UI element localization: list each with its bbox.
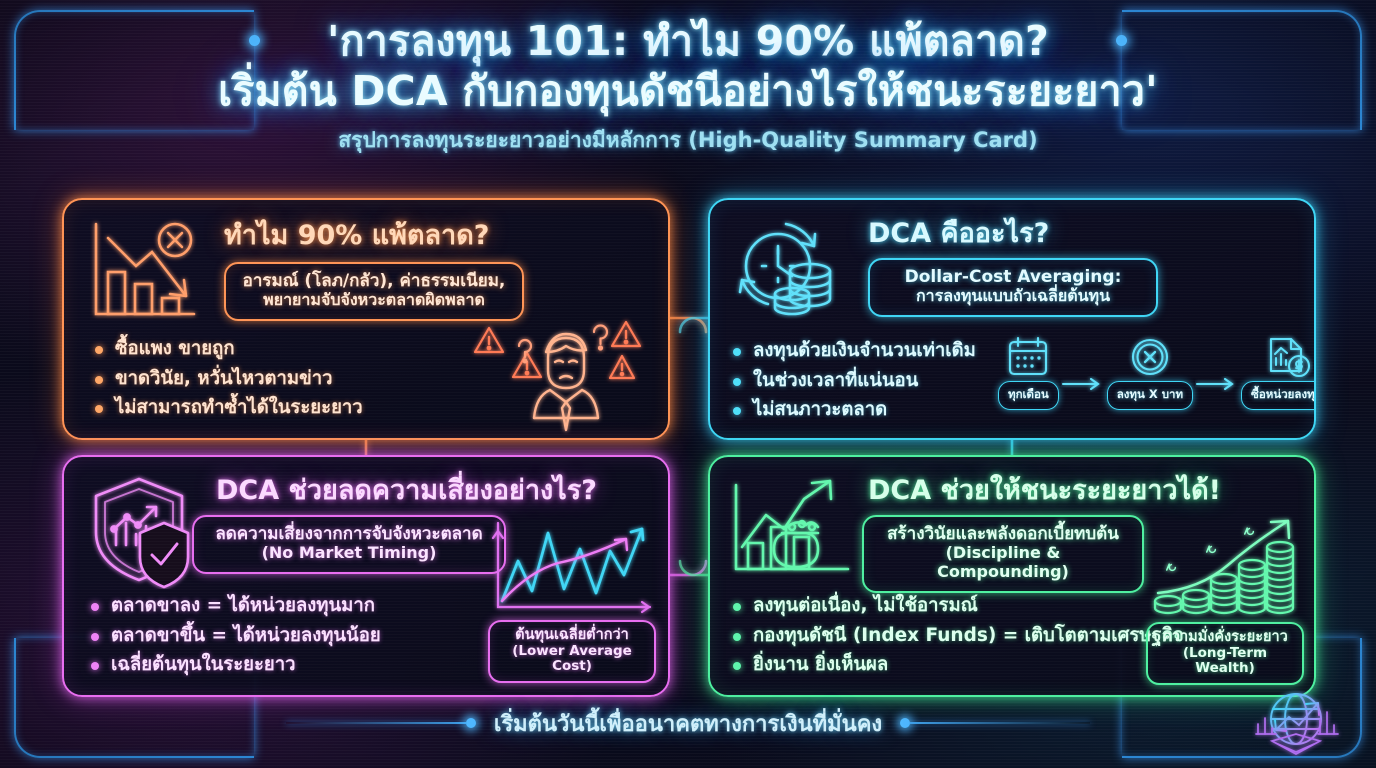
dca-step-1: ทุกเดือน bbox=[998, 333, 1059, 410]
footer-line-left bbox=[286, 722, 466, 724]
pill-lower-line-2: (Lower Average Cost) bbox=[500, 644, 644, 675]
shield-chart-check-icon bbox=[82, 471, 208, 589]
declining-bar-chart-icon bbox=[82, 214, 204, 332]
long-term-wealth-pill: ความมั่งคั่งระยะยาว (Long-Term Wealth) bbox=[1146, 622, 1304, 685]
calendar-icon bbox=[1003, 333, 1053, 381]
card-win-heading: DCA ช่วยให้ชนะระยะยาวได้! bbox=[868, 477, 1221, 504]
fund-document-icon bbox=[1261, 333, 1313, 381]
arrow-right-icon bbox=[1195, 376, 1239, 392]
list-item: ตลาดขาขึ้น = ได้หน่วยลงทุนน้อย bbox=[90, 627, 381, 646]
card-risk-tag: ลดความเสี่ยงจากการจับจังหวะตลาด (No Mark… bbox=[192, 515, 506, 574]
card-win-tag-line-1: สร้างวินัยและพลังดอกเบี้ยทบต้น bbox=[878, 524, 1128, 544]
list-item: ขาดวินัย, หวั่นไหวตามข่าว bbox=[94, 370, 363, 389]
card-why-tag-line-1: อารมณ์ (โลภ/กลัว), ค่าธรรมเนียม, bbox=[240, 271, 508, 291]
card-dca-heading: DCA คืออะไร? bbox=[868, 220, 1049, 247]
footer-dot-left bbox=[466, 718, 476, 728]
list-item: ยิ่งนาน ยิ่งเห็นผล bbox=[732, 656, 1184, 675]
pill-lower-line-1: ต้นทุนเฉลี่ยต่ำกว่า bbox=[500, 627, 644, 644]
dca-step-2-label: ลงทุน X บาท bbox=[1107, 381, 1193, 410]
card-how-dca-reduces-risk[interactable]: DCA ช่วยลดความเสี่ยงอย่างไร? ลดความเสี่ย… bbox=[62, 455, 670, 697]
coin-x-icon bbox=[1125, 333, 1175, 381]
card-dca-bullet-list: ลงทุนด้วยเงินจำนวนเท่าเดิม ในช่วงเวลาที่… bbox=[732, 342, 976, 431]
card-dca-tag-line-1: Dollar-Cost Averaging: bbox=[884, 267, 1142, 287]
growth-arrow-money-pot-icon bbox=[726, 471, 858, 593]
card-risk-tag-line-2: (No Market Timing) bbox=[208, 544, 490, 563]
card-win-bullet-list: ลงทุนต่อเนื่อง, ไม่ใช้อารมณ์ กองทุนดัชนี… bbox=[732, 597, 1184, 686]
footer-dot-right bbox=[900, 718, 910, 728]
pill-wealth-line-2: (Long-Term Wealth) bbox=[1158, 646, 1292, 677]
card-why-tag: อารมณ์ (โลภ/กลัว), ค่าธรรมเนียม, พยายามจ… bbox=[224, 262, 524, 321]
card-win-tag: สร้างวินัยและพลังดอกเบี้ยทบต้น (Discipli… bbox=[862, 515, 1144, 593]
dca-step-2: ลงทุน X บาท bbox=[1107, 333, 1193, 410]
card-why-tag-line-2: พยายามจับจังหวะตลาดผิดพลาด bbox=[240, 291, 508, 310]
card-why-bullet-list: ซื้อแพง ขายถูก ขาดวินัย, หวั่นไหวตามข่าว… bbox=[94, 340, 363, 429]
card-win-tag-line-2: (Discipline & Compounding) bbox=[878, 544, 1128, 582]
page-title-line-2: เริ่มต้น DCA กับกองทุนดัชนีอย่างไรให้ชนะ… bbox=[0, 68, 1376, 115]
card-risk-heading: DCA ช่วยลดความเสี่ยงอย่างไร? bbox=[216, 477, 597, 504]
list-item: เฉลี่ยต้นทุนในระยะยาว bbox=[90, 656, 381, 675]
clock-coins-recurring-icon bbox=[726, 216, 856, 336]
card-why-90-percent-lose[interactable]: ทำไม 90% แพ้ตลาด? อารมณ์ (โลภ/กลัว), ค่า… bbox=[62, 198, 670, 440]
volatility-vs-average-chart-icon bbox=[484, 515, 660, 625]
card-why-heading: ทำไม 90% แพ้ตลาด? bbox=[224, 222, 489, 249]
list-item: ลงทุนต่อเนื่อง, ไม่ใช้อารมณ์ bbox=[732, 597, 1184, 616]
page-title-line-1: 'การลงทุน 101: ทำไม 90% แพ้ตลาด? bbox=[0, 18, 1376, 65]
pill-wealth-line-1: ความมั่งคั่งระยะยาว bbox=[1158, 629, 1292, 646]
list-item: ในช่วงเวลาที่แน่นอน bbox=[732, 372, 976, 391]
card-risk-tag-line-1: ลดความเสี่ยงจากการจับจังหวะตลาด bbox=[208, 524, 490, 544]
arrow-right-icon bbox=[1061, 376, 1105, 392]
header: 'การลงทุน 101: ทำไม 90% แพ้ตลาด? เริ่มต้… bbox=[0, 18, 1376, 157]
footer-text: เริ่มต้นวันนี้เพื่ออนาคตทางการเงินที่มั่… bbox=[476, 706, 900, 741]
worried-person-warning-icon bbox=[462, 316, 662, 440]
page-subtitle: สรุปการลงทุนระยะยาวอย่างมีหลักการ (High-… bbox=[0, 124, 1376, 157]
card-risk-bullet-list: ตลาดขาลง = ได้หน่วยลงทุนมาก ตลาดขาขึ้น =… bbox=[90, 597, 381, 686]
globe-growth-logo bbox=[1234, 686, 1358, 762]
footer: เริ่มต้นวันนี้เพื่ออนาคตทางการเงินที่มั่… bbox=[0, 700, 1376, 746]
dca-step-3: ซื้อหน่วยลงทุน bbox=[1241, 333, 1316, 410]
card-what-is-dca[interactable]: DCA คืออะไร? Dollar-Cost Averaging: การล… bbox=[708, 198, 1316, 440]
footer-line-right bbox=[910, 722, 1090, 724]
rising-coin-stacks-icon bbox=[1148, 513, 1304, 621]
list-item: ลงทุนด้วยเงินจำนวนเท่าเดิม bbox=[732, 342, 976, 361]
list-item: ตลาดขาลง = ได้หน่วยลงทุนมาก bbox=[90, 597, 381, 616]
dca-step-3-label: ซื้อหน่วยลงทุน bbox=[1241, 381, 1316, 410]
list-item: ซื้อแพง ขายถูก bbox=[94, 340, 363, 359]
dca-step-flow: ทุกเดือน ลงทุน X บาท bbox=[998, 333, 1316, 410]
lower-average-cost-pill: ต้นทุนเฉลี่ยต่ำกว่า (Lower Average Cost) bbox=[488, 620, 656, 683]
list-item: ไม่สามารถทำซ้ำได้ในระยะยาว bbox=[94, 399, 363, 418]
card-dca-wins-long-term[interactable]: DCA ช่วยให้ชนะระยะยาวได้! สร้างวินัยและพ… bbox=[708, 455, 1316, 697]
list-item: กองทุนดัชนี (Index Funds) = เติบโตตามเศร… bbox=[732, 627, 1184, 646]
card-dca-tag-line-2: การลงทุนแบบถัวเฉลี่ยต้นทุน bbox=[884, 287, 1142, 306]
list-item: ไม่สนภาวะตลาด bbox=[732, 401, 976, 420]
dca-step-1-label: ทุกเดือน bbox=[998, 381, 1059, 410]
card-dca-tag: Dollar-Cost Averaging: การลงทุนแบบถัวเฉล… bbox=[868, 258, 1158, 317]
